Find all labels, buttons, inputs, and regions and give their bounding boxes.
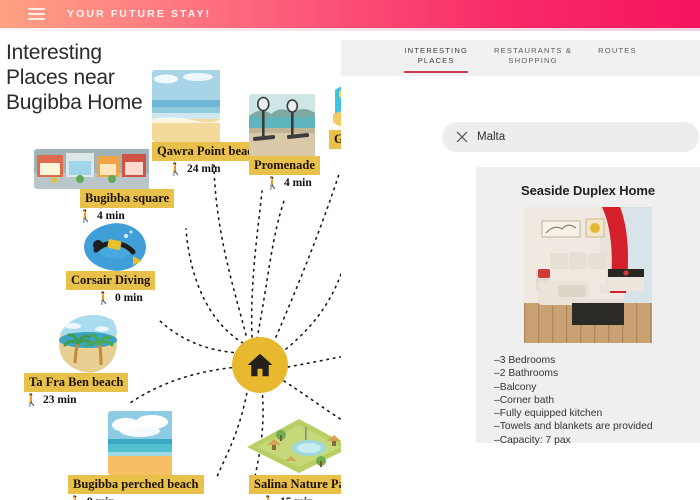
feature-item: –Balcony: [494, 381, 700, 394]
walk-icon: 🚶: [261, 496, 276, 500]
place-bugibba-square[interactable]: Bugibba square 🚶 4 min: [34, 149, 174, 222]
thumbnail-palm-beach: [58, 315, 128, 373]
feature-item: –3 Bedrooms: [494, 354, 700, 367]
thumbnail-town-shops: [34, 149, 174, 189]
thumbnail-beach-waves: [152, 70, 265, 142]
panel-tabs: INTERESTING PLACES RESTAURANTS & SHOPPIN…: [341, 40, 700, 76]
tab-interesting-places[interactable]: INTERESTING PLACES: [404, 46, 468, 73]
walk-icon: 🚶: [24, 394, 39, 406]
thumbnail-scuba-diver: [84, 223, 155, 271]
walk-icon: 🚶: [78, 210, 93, 222]
walk-icon: 🚶: [96, 292, 111, 304]
top-app-bar: YOUR FUTURE STAY!: [0, 0, 700, 28]
place-label: Promenade: [249, 156, 320, 175]
place-label: Corsair Diving: [66, 271, 155, 290]
thumbnail-promenade-lamps: [249, 94, 320, 156]
property-features: –3 Bedrooms –2 Bathrooms –Balcony –Corne…: [494, 354, 700, 447]
brand-title: YOUR FUTURE STAY!: [67, 8, 211, 20]
thumbnail-sea-clouds: [108, 411, 204, 475]
place-duration: 🚶 4 min: [249, 177, 320, 189]
place-duration: 🚶 9 min: [68, 496, 204, 500]
home-icon: [245, 350, 275, 380]
place-ta-fra-ben-beach[interactable]: Ta Fra Ben beach 🚶 23 min: [24, 315, 128, 406]
place-corsair-diving[interactable]: Corsair Diving 🚶 0 min: [66, 223, 155, 304]
hamburger-icon[interactable]: [28, 8, 45, 20]
place-bugibba-perched-beach[interactable]: Bugibba perched beach 🚶 9 min: [68, 411, 204, 500]
app-root: YOUR FUTURE STAY! Interesting Places nea…: [0, 0, 700, 500]
place-promenade[interactable]: Promenade 🚶 4 min: [249, 94, 320, 189]
page-title: Interesting Places near Bugibba Home: [6, 40, 166, 115]
tab-restaurants-shopping[interactable]: RESTAURANTS & SHOPPING: [494, 46, 572, 71]
search-value: Malta: [477, 131, 505, 143]
place-label: Bugibba square: [80, 189, 174, 208]
place-duration: 🚶 23 min: [24, 394, 128, 406]
property-card[interactable]: Seaside Duplex Home: [476, 167, 700, 443]
feature-item: –Corner bath: [494, 394, 700, 407]
feature-item: –Capacity: 7 pax: [494, 434, 700, 447]
place-label: Bugibba perched beach: [68, 475, 204, 494]
place-label: Ta Fra Ben beach: [24, 373, 128, 392]
feature-item: –Fully equipped kitchen: [494, 407, 700, 420]
feature-item: –2 Bathrooms: [494, 367, 700, 380]
search-input[interactable]: Malta: [442, 122, 699, 152]
living-room-photo: [524, 207, 652, 343]
property-title: Seaside Duplex Home: [476, 167, 700, 207]
feature-item: –Towels and blankets are provided: [494, 420, 700, 433]
place-duration: 🚶 0 min: [66, 292, 155, 304]
home-hub-marker[interactable]: [232, 337, 288, 393]
walk-icon: 🚶: [68, 496, 83, 500]
place-duration: 🚶 4 min: [34, 210, 174, 222]
walk-icon: 🚶: [265, 177, 280, 189]
details-panel: INTERESTING PLACES RESTAURANTS & SHOPPIN…: [341, 31, 700, 500]
tab-routes[interactable]: ROUTES: [598, 46, 637, 61]
close-icon[interactable]: [456, 131, 468, 143]
